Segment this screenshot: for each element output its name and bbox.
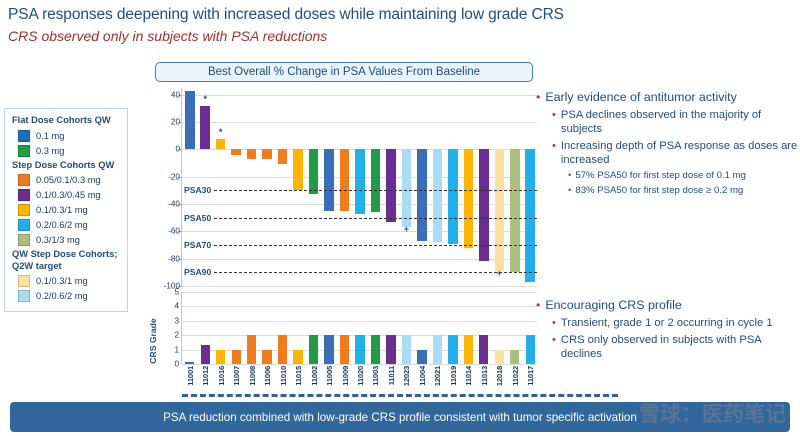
crs-y-tick-label: 0: [174, 360, 179, 369]
waterfall-bar: [417, 149, 427, 240]
crs-bar: [526, 335, 535, 364]
bullet-text: Encouraging CRS profile: [545, 298, 681, 313]
crs-bar: [386, 335, 395, 364]
crs-bar: [293, 350, 302, 364]
bullet-level-3: •57% PSA50 for first step dose of 0.1 mg: [568, 170, 798, 183]
crs-bar: [495, 350, 504, 364]
legend-item-label: 0.1 mg: [36, 131, 64, 141]
bullet-level-3: •83% PSA50 for first step dose ≥ 0.2 mg: [568, 185, 798, 198]
y-axis-tick-label: -40: [168, 200, 180, 209]
crs-y-tick-label: 5: [174, 288, 179, 297]
bullet-dot-icon: •: [568, 185, 571, 198]
crs-bar: [402, 335, 411, 364]
crs-y-tick-label: 4: [174, 302, 179, 311]
subject-id-label: 11015: [294, 366, 303, 386]
bullet-dot-icon: •: [552, 333, 556, 361]
subject-id-label: 11017: [526, 366, 535, 386]
bar-annotation-marker: +: [404, 224, 409, 234]
subject-id-label: 11014: [464, 366, 473, 386]
bullet-level-2: •Transient, grade 1 or 2 occurring in cy…: [552, 316, 798, 330]
legend-item-label: 0.2/0.6/2 mg: [36, 220, 88, 230]
legend-color-swatch: [18, 275, 30, 287]
waterfall-bar: [231, 149, 241, 154]
waterfall-bar: [495, 149, 505, 271]
subject-id-label: 12021: [433, 366, 442, 386]
subject-id-label: 11009: [341, 366, 350, 386]
crs-bar: [247, 335, 256, 364]
bar-annotation-marker: *: [203, 94, 207, 104]
waterfall-bar: [355, 149, 365, 213]
page-subtitle: CRS observed only in subjects with PSA r…: [8, 28, 648, 44]
bullet-text: 83% PSA50 for first step dose ≥ 0.2 mg: [575, 185, 743, 198]
crs-bar: [448, 335, 457, 364]
dose-cohort-legend: Flat Dose Cohorts QW0.1 mg0.3 mgStep Dos…: [4, 108, 128, 312]
subject-id-label: 11016: [217, 366, 226, 386]
legend-color-swatch: [18, 174, 30, 186]
legend-item-label: 0.1/0.3/0.45 mg: [36, 190, 101, 200]
bullet-level-2: •CRS only observed in subjects with PSA …: [552, 333, 798, 361]
legend-item[interactable]: 0.2/0.6/2 mg: [18, 290, 122, 302]
waterfall-bar: [216, 139, 226, 150]
crs-y-tick-label: 1: [174, 345, 179, 354]
bullet-text: Increasing depth of PSA response as dose…: [561, 139, 798, 167]
slide-root: PSA responses deepening with increased d…: [0, 0, 800, 436]
legend-item[interactable]: 0.1/0.3/0.45 mg: [18, 189, 122, 201]
subject-id-label: 11003: [371, 366, 380, 386]
gridline: [182, 321, 537, 322]
subject-id-label: 11020: [356, 366, 365, 386]
waterfall-bar: [510, 149, 520, 272]
subject-id-label: 11019: [449, 366, 458, 386]
crs-bar: [232, 350, 241, 364]
waterfall-bar: [293, 149, 303, 190]
crs-bar: [216, 350, 225, 364]
legend-color-swatch: [18, 189, 30, 201]
waterfall-bar: [262, 149, 272, 159]
legend-item-label: 0.2/0.6/2 mg: [36, 291, 88, 301]
gridline: [182, 286, 537, 287]
crs-bar: [278, 335, 287, 364]
psa-reference-line: [214, 245, 537, 246]
gridline: [182, 95, 537, 96]
bullet-text: Early evidence of antitumor activity: [545, 90, 736, 105]
crs-bar: [185, 362, 194, 364]
legend-group-heading: Flat Dose Cohorts QW: [12, 115, 122, 127]
legend-item[interactable]: 0.1/0.3/1 mg: [18, 204, 122, 216]
crs-bar: [355, 335, 364, 364]
psa-reference-line: [214, 190, 537, 191]
waterfall-bar: [309, 149, 319, 194]
gridline: [182, 122, 537, 123]
subject-id-label: 11008: [248, 366, 257, 386]
crs-bar: [371, 335, 380, 364]
bullet-level-2: •PSA declines observed in the majority o…: [552, 108, 798, 136]
legend-group-heading: Step Dose Cohorts QW: [12, 160, 122, 172]
subject-id-label: 11004: [418, 366, 427, 386]
psa-reference-label: PSA30: [183, 185, 212, 195]
y-axis-tick-label: -80: [168, 254, 180, 263]
y-axis-tick-label: -20: [168, 172, 180, 181]
waterfall-bar: [340, 149, 350, 210]
waterfall-bar: [247, 149, 257, 159]
y-axis-tick-label: 20: [171, 118, 180, 127]
crs-bar: [262, 350, 271, 364]
subject-id-label: 11022: [511, 366, 520, 386]
psa-reference-label: PSA70: [183, 240, 212, 250]
bullet-level-2: •Increasing depth of PSA response as dos…: [552, 139, 798, 167]
waterfall-bar: [278, 149, 288, 164]
legend-item-label: 0.3 mg: [36, 146, 64, 156]
psa-reference-label: PSA50: [183, 213, 212, 223]
legend-color-swatch: [18, 204, 30, 216]
gridline: [182, 306, 537, 307]
bullet-text: CRS only observed in subjects with PSA d…: [561, 333, 798, 361]
legend-color-swatch: [18, 130, 30, 142]
waterfall-bar: [371, 149, 381, 212]
subject-id-label: 11010: [279, 366, 288, 386]
psa-reference-label: PSA90: [183, 267, 212, 277]
bullet-level-1: •Encouraging CRS profile: [536, 298, 798, 313]
crs-bar: [340, 335, 349, 364]
crs-bar: [324, 335, 333, 364]
legend-item-label: 0.1/0.3/1 mg: [36, 205, 88, 215]
subject-id-label: 11011: [387, 366, 396, 385]
legend-color-swatch: [18, 145, 30, 157]
crs-y-tick-label: 3: [174, 316, 179, 325]
bullet-text: 57% PSA50 for first step dose of 0.1 mg: [575, 170, 746, 183]
subject-id-label: 11013: [480, 366, 489, 386]
bullets-crs: •Encouraging CRS profile•Transient, grad…: [536, 298, 798, 364]
crs-grade-chart: CRS Grade 012345110011101211016110071100…: [155, 292, 537, 392]
legend-color-swatch: [18, 290, 30, 302]
bullet-level-1: •Early evidence of antitumor activity: [536, 90, 798, 105]
legend-item[interactable]: 0.1 mg: [18, 130, 122, 142]
bullet-dot-icon: •: [552, 139, 556, 167]
legend-item[interactable]: 0.3 mg: [18, 145, 122, 157]
subject-id-label: 11005: [325, 366, 334, 386]
psa-reference-line: [214, 218, 537, 219]
banner-dashed-divider: [182, 394, 618, 398]
bullet-text: PSA declines observed in the majority of…: [561, 108, 798, 136]
crs-bar: [464, 335, 473, 364]
bullet-dot-icon: •: [552, 108, 556, 136]
waterfall-bar: [402, 149, 412, 227]
gridline: [182, 292, 537, 293]
waterfall-bar: [525, 149, 535, 281]
legend-item-label: 0.1/0.3/1 mg: [36, 276, 88, 286]
legend-color-swatch: [18, 219, 30, 231]
legend-item[interactable]: 0.05/0.1/0.3 mg: [18, 174, 122, 186]
psa-reference-line: [214, 272, 537, 273]
waterfall-bar: [464, 149, 474, 247]
crs-bar: [417, 350, 426, 364]
crs-bar: [201, 345, 210, 364]
subject-id-label: 11006: [263, 366, 272, 386]
crs-bar: [433, 335, 442, 364]
summary-banner: PSA reduction combined with low-grade CR…: [10, 402, 790, 432]
crs-plot-area: 0123451100111012110161100711008110061101…: [181, 292, 537, 364]
gridline: [182, 364, 537, 365]
crs-bar: [510, 350, 519, 364]
legend-item[interactable]: 0.2/0.6/2 mg: [18, 219, 122, 231]
crs-y-tick-label: 2: [174, 331, 179, 340]
waterfall-bar: [433, 149, 443, 242]
waterfall-bar: [200, 106, 210, 150]
waterfall-chart-title: Best Overall % Change in PSA Values From…: [155, 62, 533, 82]
bullet-dot-icon: •: [536, 298, 540, 313]
waterfall-bar: [324, 149, 334, 210]
legend-item-label: 0.3/1/3 mg: [36, 235, 80, 245]
bullets-antitumor: •Early evidence of antitumor activity•PS…: [536, 90, 798, 199]
waterfall-bar: [386, 149, 396, 221]
bar-annotation-marker: +: [497, 268, 502, 278]
subject-id-label: 12023: [402, 366, 411, 386]
y-axis-tick-label: 40: [171, 90, 180, 99]
y-axis-tick-label: 0: [175, 145, 180, 154]
waterfall-plot-area: 40200-20-40-60-80-100PSA30PSA50PSA70PSA9…: [181, 88, 537, 286]
legend-item[interactable]: 0.1/0.3/1 mg: [18, 275, 122, 287]
waterfall-bar: [185, 91, 195, 150]
crs-axis-label: CRS Grade: [148, 318, 158, 363]
waterfall-bar: [448, 149, 458, 243]
legend-item[interactable]: 0.3/1/3 mg: [18, 234, 122, 246]
y-axis-tick-label: -60: [168, 227, 180, 236]
crs-bar: [479, 335, 488, 364]
bullet-text: Transient, grade 1 or 2 occurring in cyc…: [561, 316, 773, 330]
subject-id-label: 12018: [495, 366, 504, 386]
legend-item-label: 0.05/0.1/0.3 mg: [36, 175, 101, 185]
bullet-dot-icon: •: [536, 90, 540, 105]
legend-group-heading: QW Step Dose Cohorts; Q2W target: [12, 249, 122, 272]
subject-id-label: 11012: [201, 366, 210, 386]
legend-color-swatch: [18, 234, 30, 246]
bar-annotation-marker: *: [219, 127, 223, 137]
subject-id-label: 11002: [310, 366, 319, 386]
subject-id-label: 11007: [232, 366, 241, 386]
bullet-dot-icon: •: [568, 170, 571, 183]
waterfall-chart: 40200-20-40-60-80-100PSA30PSA50PSA70PSA9…: [155, 88, 537, 286]
bullet-dot-icon: •: [552, 316, 556, 330]
crs-bar: [309, 335, 318, 364]
subject-id-label: 11001: [186, 366, 195, 386]
page-title: PSA responses deepening with increased d…: [8, 6, 648, 24]
